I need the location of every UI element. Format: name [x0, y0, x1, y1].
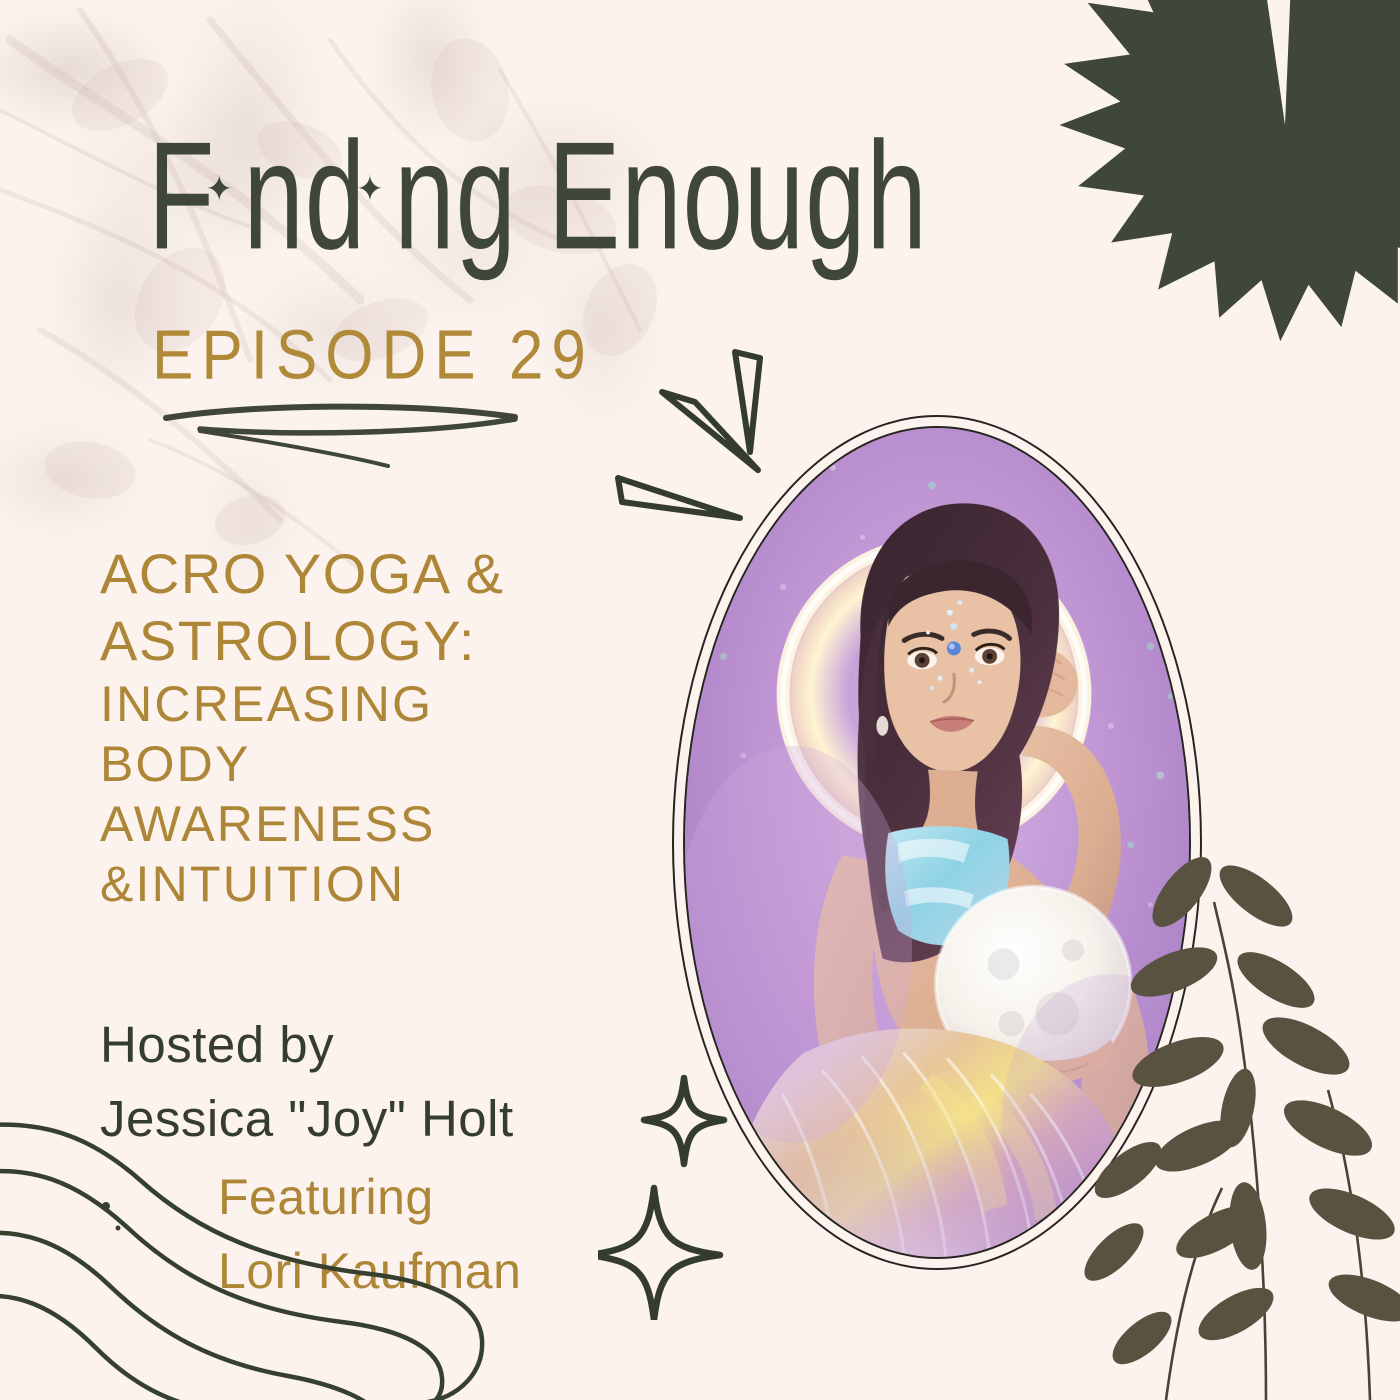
- episode-title-line: BODY: [100, 734, 620, 794]
- botanical-leaves-icon: [1070, 840, 1400, 1400]
- title-segment-2: nd: [243, 111, 366, 283]
- episode-title-line: &INTUITION: [100, 854, 620, 914]
- sparkle-icon: ✦: [205, 169, 233, 211]
- episode-title-line: INCREASING: [100, 674, 620, 734]
- episode-title: ACRO YOGA & ASTROLOGY: INCREASING BODY A…: [100, 540, 620, 914]
- episode-title-line: ACRO YOGA &: [100, 540, 620, 607]
- title-segment-3: ng Enough: [394, 111, 927, 283]
- episode-title-line: ASTROLOGY:: [100, 607, 620, 674]
- episode-title-line: AWARENESS: [100, 794, 620, 854]
- sunburst-icon: [1050, 0, 1400, 360]
- wave-lines-icon: [0, 1110, 530, 1400]
- swoosh-underline-icon: [160, 398, 530, 478]
- episode-label: EPISODE 29: [152, 316, 594, 396]
- sparkle-icon: ✦: [356, 169, 384, 211]
- page-title: F✦nd✦ng Enough: [148, 108, 928, 285]
- podcast-cover-art: F✦nd✦ng Enough EPISODE 29 ACRO YOGA & AS…: [0, 0, 1400, 1400]
- hosted-by-label: Hosted by: [100, 1008, 514, 1082]
